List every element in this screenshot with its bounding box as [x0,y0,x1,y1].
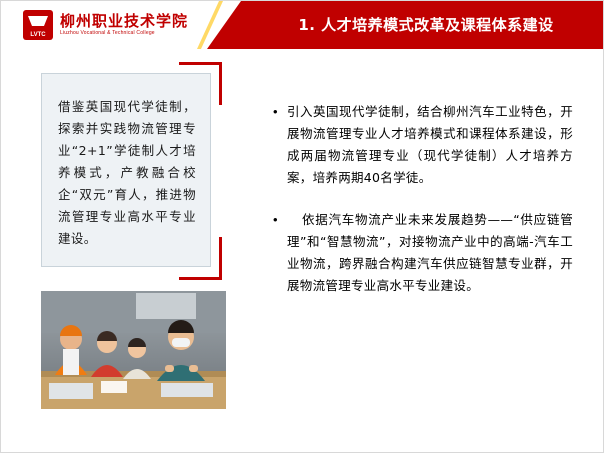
bullet-item: • 依据汽车物流产业未来发展趋势——“供应链管理”和“智慧物流”，对接物流产业中… [273,209,573,297]
corner-decoration-top-right [179,62,222,105]
page-title: 1. 人才培养模式改革及课程体系建设 [256,14,596,35]
slide-header: 柳州职业技术学院 Liuzhou Vocational & Technical … [1,1,604,49]
classroom-photo [41,291,226,409]
bullet-marker: • [273,209,287,297]
right-column: • 引入英国现代学徒制，结合柳州汽车工业特色，开展物流管理专业人才培养模式和课程… [273,101,573,317]
logo-name-cn: 柳州职业技术学院 [60,13,188,29]
logo-text-block: 柳州职业技术学院 Liuzhou Vocational & Technical … [60,13,188,37]
slide: 柳州职业技术学院 Liuzhou Vocational & Technical … [0,0,604,453]
bullet-text: 依据汽车物流产业未来发展趋势——“供应链管理”和“智慧物流”，对接物流产业中的高… [287,209,573,297]
bullet-marker: • [273,101,287,189]
bullet-text: 引入英国现代学徒制，结合柳州汽车工业特色，开展物流管理专业人才培养模式和课程体系… [287,101,573,189]
quote-text: 借鉴英国现代学徒制，探索并实践物流管理专业“2+1”学徒制人才培养模式，产教融合… [58,96,196,250]
bullet-item: • 引入英国现代学徒制，结合柳州汽车工业特色，开展物流管理专业人才培养模式和课程… [273,101,573,189]
logo-mark-icon [23,10,53,40]
college-logo: 柳州职业技术学院 Liuzhou Vocational & Technical … [23,10,188,40]
classroom-photo-image [41,291,226,409]
left-column: 借鉴英国现代学徒制，探索并实践物流管理专业“2+1”学徒制人才培养模式，产教融合… [41,73,231,267]
logo-name-en: Liuzhou Vocational & Technical College [60,29,188,37]
quote-box: 借鉴英国现代学徒制，探索并实践物流管理专业“2+1”学徒制人才培养模式，产教融合… [41,73,211,267]
corner-decoration-bottom-right [179,237,222,280]
